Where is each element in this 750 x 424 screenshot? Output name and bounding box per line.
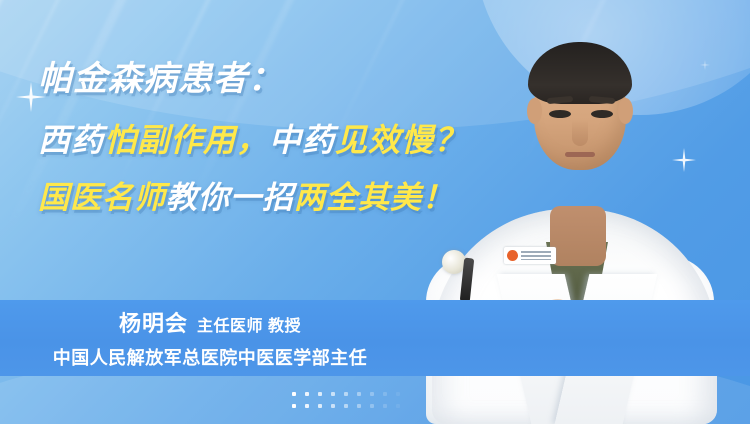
- headline-line-2-segment-a: 西药: [38, 122, 104, 158]
- dot: [292, 392, 296, 396]
- dot: [292, 404, 296, 408]
- dot-grid-decoration: [292, 392, 409, 416]
- hospital-badge: [504, 247, 556, 264]
- dot: [383, 392, 387, 396]
- headline-line-2-segment-d: 见效慢？: [335, 122, 467, 158]
- dot: [396, 404, 400, 408]
- dot: [370, 392, 374, 396]
- headline-line-1: 帕金森病患者：: [38, 62, 508, 96]
- headline-line-3-segment-c: 两全其美！: [294, 180, 454, 215]
- doctor-titles: 主任医师 教授: [197, 312, 301, 336]
- doctor-mouth: [565, 152, 595, 157]
- badge-text-lines: [521, 251, 551, 260]
- doctor-name: 杨明会: [119, 306, 188, 338]
- doctor-eye-left: [549, 110, 571, 118]
- headline-block: 帕金森病患者： 西药怕副作用，中药见效慢？ 国医名师教你一招两全其美！: [38, 62, 508, 213]
- dot: [318, 392, 322, 396]
- dot: [370, 404, 374, 408]
- poster-canvas: 帕金森病患者： 西药怕副作用，中药见效慢？ 国医名师教你一招两全其美！ 杨明会 …: [0, 0, 750, 424]
- doctor-credentials: 杨明会 主任医师 教授 中国人民解放军总医院中医医学部主任: [0, 300, 420, 376]
- doctor-hair: [528, 42, 632, 104]
- headline-line-2-segment-b: 怕副作用，: [104, 122, 269, 158]
- doctor-ear-left: [527, 98, 542, 124]
- light-ray: [0, 0, 35, 229]
- headline-line-1-text: 帕金森病患者：: [38, 60, 283, 98]
- headline-line-3: 国医名师教你一招两全其美！: [38, 182, 508, 213]
- dot: [344, 392, 348, 396]
- doctor-nose: [572, 120, 588, 146]
- dot: [305, 404, 309, 408]
- headline-line-2-segment-c: 中药: [269, 122, 335, 158]
- dot: [331, 392, 335, 396]
- dot: [396, 392, 400, 396]
- headline-line-3-segment-a: 国医名师: [38, 180, 166, 215]
- doctor-eye-right: [591, 110, 613, 118]
- dot: [344, 404, 348, 408]
- dot: [357, 404, 361, 408]
- dot: [331, 404, 335, 408]
- headline-line-3-segment-b: 教你一招: [166, 180, 294, 215]
- doctor-neck: [550, 206, 606, 266]
- headline-line-2: 西药怕副作用，中药见效慢？: [38, 124, 508, 156]
- doctor-affiliation: 中国人民解放军总医院中医医学部主任: [53, 344, 368, 370]
- hospital-logo-icon: [507, 250, 518, 261]
- doctor-ear-right: [618, 98, 633, 124]
- dot: [357, 392, 361, 396]
- dot: [383, 404, 387, 408]
- doctor-name-row: 杨明会 主任医师 教授: [119, 306, 301, 338]
- dot: [318, 404, 322, 408]
- dot: [305, 392, 309, 396]
